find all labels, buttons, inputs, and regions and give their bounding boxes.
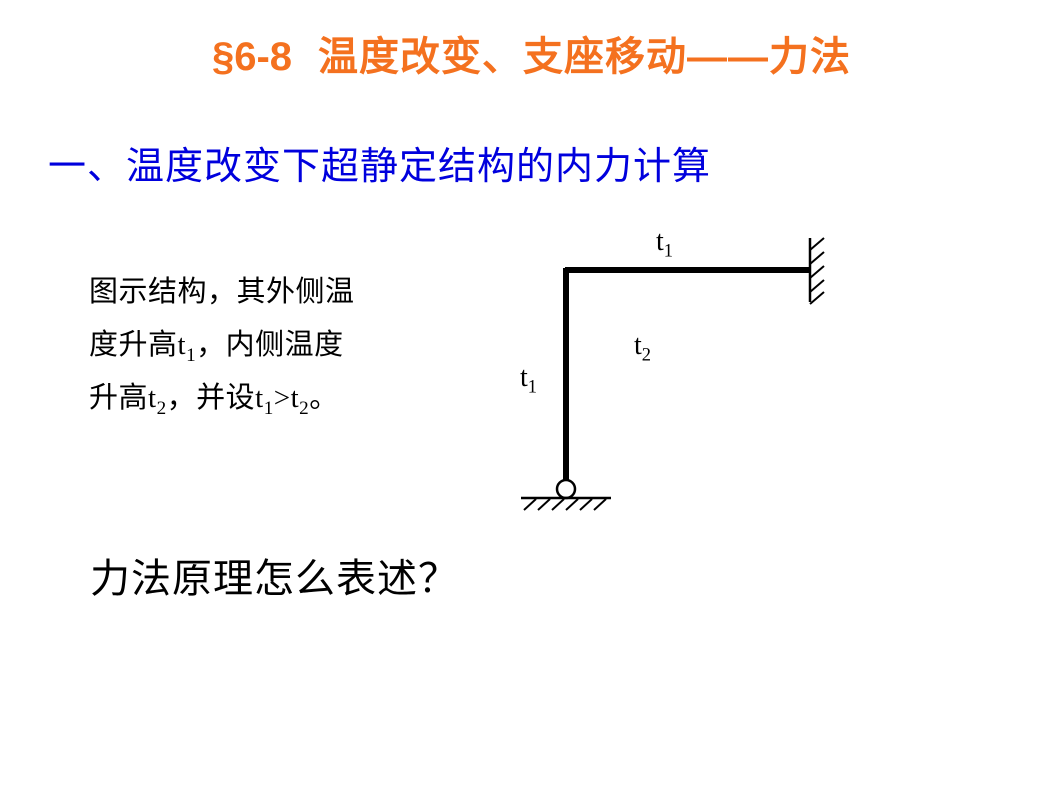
hinge-support-circle (557, 480, 575, 498)
label-beam-outer-var: t (656, 226, 664, 257)
body-paragraph: 图示结构，其外侧温 度升高t1，内侧温度 升高t2，并设t1>t2。 (89, 266, 449, 425)
fixed-support-hatching (810, 238, 824, 304)
body-line-3-var-b: t (291, 382, 300, 414)
frame-diagram-svg (480, 210, 900, 530)
body-line-1-text: 图示结构，其外侧温 (89, 276, 355, 308)
body-line-3-subscript: 2 (157, 398, 167, 419)
body-line-2: 度升高t1，内侧温度 (89, 319, 449, 372)
question-text: 力法原理怎么表述？ (90, 546, 459, 604)
body-line-2-prefix: 度升高t (89, 329, 186, 361)
label-beam-outer-sub: 1 (664, 241, 673, 261)
body-line-3-operator: > (274, 382, 291, 414)
slide-canvas: §6-8温度改变、支座移动——力法 一、温度改变下超静定结构的内力计算 图示结构… (0, 0, 1063, 794)
label-column-outer-sub: 1 (528, 377, 537, 397)
body-line-3-suffix: ，并设t (167, 382, 264, 414)
label-inner-sub: 2 (642, 345, 651, 365)
body-line-2-subscript: 1 (186, 345, 196, 366)
body-line-3-prefix: 升高t (89, 382, 157, 414)
title-section-number: §6-8 (212, 35, 292, 79)
body-line-3-sub-b: 2 (299, 398, 309, 419)
section-subtitle: 一、温度改变下超静定结构的内力计算 (48, 135, 711, 190)
label-inner-temperature: t2 (634, 330, 651, 362)
page-title: §6-8温度改变、支座移动——力法 (0, 24, 1063, 82)
body-line-3-sub-a: 1 (264, 398, 274, 419)
ground-hatching (524, 499, 606, 510)
body-line-3-period: 。 (309, 382, 339, 414)
body-line-3: 升高t2，并设t1>t2。 (89, 372, 449, 425)
label-column-outer-var: t (520, 362, 528, 393)
body-line-1: 图示结构，其外侧温 (89, 266, 449, 319)
body-line-2-suffix: ，内侧温度 (196, 329, 344, 361)
title-text: 温度改变、支座移动——力法 (318, 35, 851, 79)
structure-diagram: t1 t2 t1 (480, 210, 900, 530)
label-beam-outer-temperature: t1 (656, 226, 673, 258)
label-column-outer-temperature: t1 (520, 362, 537, 394)
label-inner-var: t (634, 330, 642, 361)
